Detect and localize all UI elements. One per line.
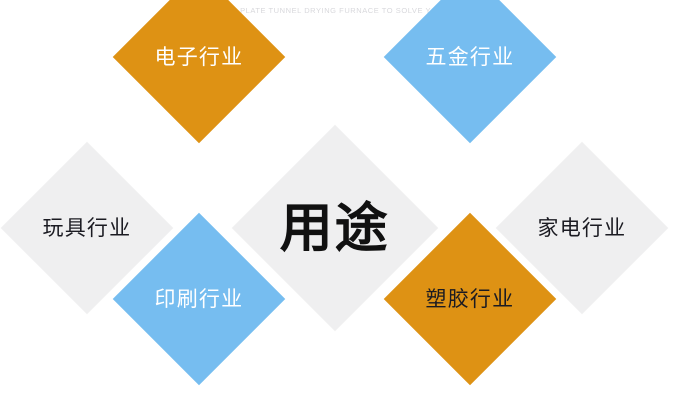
diamond-tile-hardware[interactable]: 五金行业 bbox=[384, 0, 557, 143]
diamond-label-plastics: 塑胶行业 bbox=[426, 289, 515, 310]
diamond-label-printing: 印刷行业 bbox=[155, 289, 244, 310]
diamond-label-center-usage: 用途 bbox=[280, 202, 390, 255]
diagram-page: ESCHAIN PLATE TUNNEL DRYING FURNACE TO S… bbox=[0, 0, 697, 414]
diamond-label-hardware: 五金行业 bbox=[426, 47, 515, 68]
diamond-tile-electronics[interactable]: 电子行业 bbox=[113, 0, 286, 143]
header-strip: ESCHAIN PLATE TUNNEL DRYING FURNACE TO S… bbox=[0, 0, 697, 20]
diamond-diagram: 电子行业 五金行业 玩具行业 家电行业 用途 印刷行业 塑胶行业 bbox=[0, 20, 697, 414]
diamond-label-toys: 玩具行业 bbox=[43, 218, 132, 239]
diamond-label-appliances: 家电行业 bbox=[538, 218, 627, 239]
diamond-label-electronics: 电子行业 bbox=[155, 47, 244, 68]
